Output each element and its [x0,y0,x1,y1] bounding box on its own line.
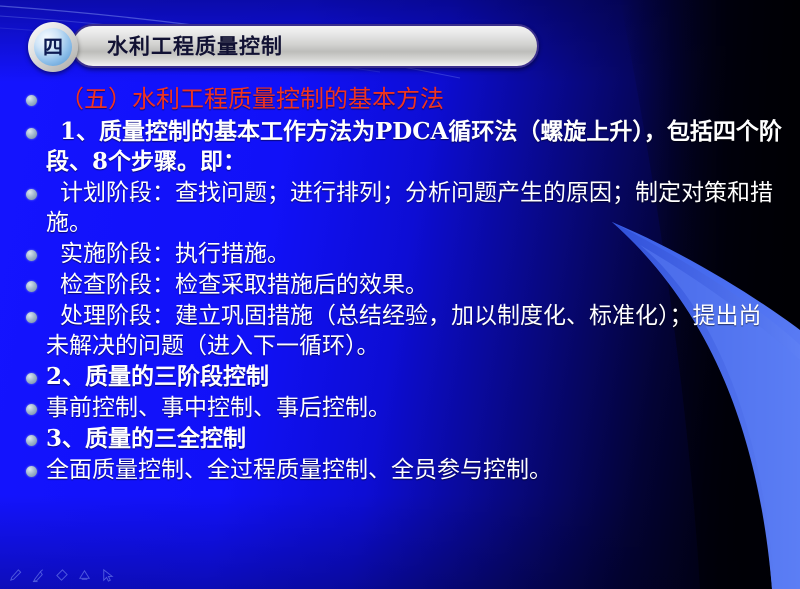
content-line: 实施阶段：执行措施。 [0,239,800,269]
content-line-text: 1、质量控制的基本工作方法为PDCA循环法（螺旋上升），包括四个阶段、8个步骤。… [46,117,782,177]
bullet-icon [26,435,37,446]
bullet-icon [26,373,37,384]
section-number-badge-inner: 四 [34,28,72,66]
section-heading: （五）水利工程质量控制的基本方法 [46,84,782,114]
content-line: 处理阶段：建立巩固措施（总结经验，加以制度化、标准化）；提出尚未解决的问题（进入… [0,301,800,361]
pen-icon[interactable] [8,568,23,583]
title-pill: 水利工程质量控制 [71,24,539,68]
content-line: 检查阶段：检查采取措施后的效果。 [0,270,800,300]
content-line-text: 计划阶段：查找问题；进行排列；分析问题产生的原因；制定对策和措施。 [46,178,782,238]
bullet-icon [26,95,37,106]
content-line: 1、质量控制的基本工作方法为PDCA循环法（螺旋上升），包括四个阶段、8个步骤。… [0,117,800,177]
content-heading-row: （五）水利工程质量控制的基本方法 [0,84,800,114]
content-line-text: 全面质量控制、全过程质量控制、全员参与控制。 [46,455,782,485]
section-number-text: 四 [43,37,63,57]
slide-title-bar: 水利工程质量控制 四 [28,22,540,72]
content-line-text: 事前控制、事中控制、事后控制。 [46,393,782,423]
content-line-text: 实施阶段：执行措施。 [46,239,782,269]
arrow-pointer-icon[interactable] [100,568,115,583]
presentation-slide: 水利工程质量控制 四 （五）水利工程质量控制的基本方法 1、质量控制的基本工作方… [0,0,800,589]
content-line-text: 检查阶段：检查采取措施后的效果。 [46,270,782,300]
section-number-badge: 四 [28,22,78,72]
slideshow-ink-toolbar[interactable] [8,568,115,583]
bullet-icon [26,466,37,477]
content-line-text: 2、质量的三阶段控制 [46,362,782,392]
highlighter-icon[interactable] [31,568,46,583]
slide-body: （五）水利工程质量控制的基本方法 1、质量控制的基本工作方法为PDCA循环法（螺… [0,84,800,486]
bullet-icon [26,404,37,415]
bullet-icon [26,128,37,139]
bullet-icon [26,312,37,323]
content-line: 2、质量的三阶段控制 [0,362,800,392]
content-line: 3、质量的三全控制 [0,424,800,454]
eraser-icon[interactable] [54,568,69,583]
bullet-icon [26,250,37,261]
content-line: 事前控制、事中控制、事后控制。 [0,393,800,423]
bullet-icon [26,189,37,200]
ink-options-icon[interactable] [77,568,92,583]
content-line-text: 处理阶段：建立巩固措施（总结经验，加以制度化、标准化）；提出尚未解决的问题（进入… [46,301,782,361]
content-line: 全面质量控制、全过程质量控制、全员参与控制。 [0,455,800,485]
content-line-text: 3、质量的三全控制 [46,424,782,454]
bullet-icon [26,281,37,292]
page-title: 水利工程质量控制 [107,30,283,60]
content-line: 计划阶段：查找问题；进行排列；分析问题产生的原因；制定对策和措施。 [0,178,800,238]
